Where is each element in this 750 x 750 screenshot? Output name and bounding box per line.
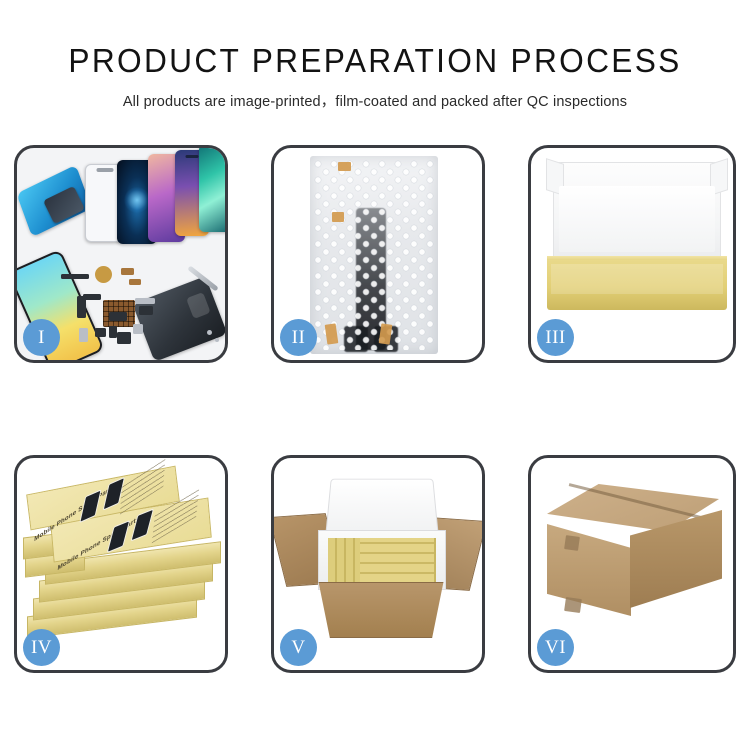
spare-part-camera bbox=[109, 326, 117, 338]
spare-part-button bbox=[95, 328, 106, 337]
step-badge-6: VI bbox=[537, 629, 574, 666]
spare-part-connector-a bbox=[121, 268, 134, 275]
spare-part-screw-a bbox=[207, 330, 212, 335]
carton-front-image bbox=[310, 582, 452, 638]
tape-piece-2 bbox=[332, 212, 344, 222]
notch-shape bbox=[97, 168, 114, 172]
process-step-panel-2[interactable]: II bbox=[271, 145, 485, 363]
page-header: PRODUCT PREPARATION PROCESS All products… bbox=[0, 0, 750, 111]
spare-part-flex-strip bbox=[61, 274, 89, 279]
carton-left-face-image bbox=[547, 524, 631, 616]
spare-part-shield bbox=[109, 312, 127, 321]
spare-part-bracket-b bbox=[139, 306, 153, 315]
process-step-panel-5[interactable]: V bbox=[271, 455, 485, 673]
spare-part-connector-b bbox=[129, 279, 141, 285]
carton-tape-lower bbox=[564, 597, 582, 613]
spare-part-bracket-a bbox=[135, 298, 155, 304]
box-label-screen-img-lower-a bbox=[107, 520, 130, 553]
step-badge-4: IV bbox=[23, 629, 60, 666]
box-stack-image: Mobile Phone Spare Parts Mobile Phone Sp… bbox=[23, 476, 223, 658]
spare-part-cable-b bbox=[83, 294, 101, 300]
process-step-panel-3[interactable]: III bbox=[528, 145, 736, 363]
step-badge-2: II bbox=[280, 319, 317, 356]
inner-boxes-secondary-image bbox=[360, 538, 434, 582]
phone-teal-image bbox=[199, 148, 225, 232]
product-preparation-process-page: PRODUCT PREPARATION PROCESS All products… bbox=[0, 0, 750, 750]
spare-part-screw-b bbox=[215, 338, 219, 342]
page-subtitle: All products are image-printed，film-coat… bbox=[0, 90, 750, 111]
tape-piece-1 bbox=[338, 162, 351, 171]
process-step-panel-6[interactable]: VI bbox=[528, 455, 736, 673]
foam-sheet-image bbox=[559, 186, 715, 252]
spare-part-screw-plate bbox=[133, 324, 143, 334]
spare-part-sim-tray bbox=[79, 328, 88, 342]
step-badge-1: I bbox=[23, 319, 60, 356]
spare-part-module bbox=[117, 332, 131, 344]
page-title: PRODUCT PREPARATION PROCESS bbox=[15, 44, 735, 79]
carton-tape-upper bbox=[564, 535, 580, 551]
box-label-screen-img-lower-b bbox=[131, 508, 154, 541]
spare-part-speaker bbox=[95, 266, 112, 283]
process-steps-grid: I II II bbox=[14, 145, 737, 673]
box-front-image bbox=[547, 260, 727, 310]
bubble-texture bbox=[314, 160, 434, 350]
process-step-panel-4[interactable]: Mobile Phone Spare Parts Mobile Phone Sp… bbox=[14, 455, 228, 673]
step-badge-3: III bbox=[537, 319, 574, 356]
process-step-panel-1[interactable]: I bbox=[14, 145, 228, 363]
step-badge-5: V bbox=[280, 629, 317, 666]
